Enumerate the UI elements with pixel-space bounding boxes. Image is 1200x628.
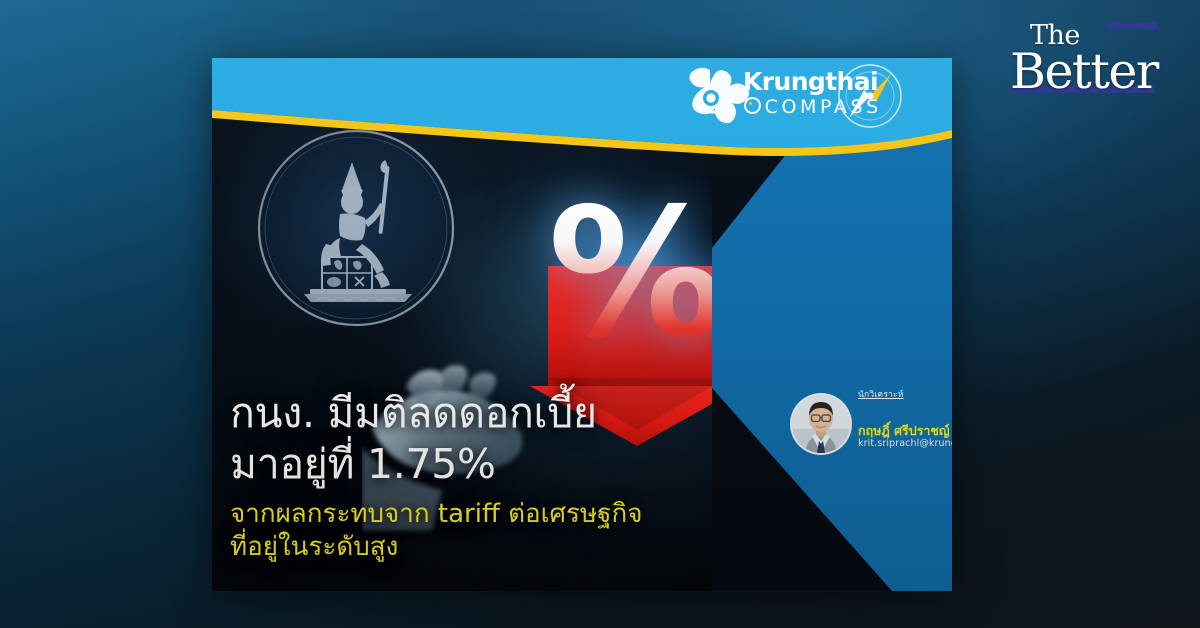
analyst-email: krit.sriprachl@krungthai.com bbox=[858, 438, 952, 449]
the-better-logo: The Better bbox=[1010, 22, 1160, 93]
analyst-portrait-icon bbox=[790, 393, 852, 455]
brand-product-text: COMPASS bbox=[765, 96, 882, 118]
headline: กนง. มีมติลดดอกเบี้ย มาอยู่ที่ 1.75% bbox=[230, 388, 750, 490]
infographic-card: % bbox=[212, 58, 952, 591]
subheadline: จากผลกระทบจาก tariff ต่อเศรษฐกิจ ที่อยู่… bbox=[230, 498, 750, 564]
page-background: The Better bbox=[0, 0, 1200, 628]
headline-line-1: กนง. มีมติลดดอกเบี้ย bbox=[230, 389, 597, 437]
brand-name: Krungthai bbox=[743, 69, 878, 94]
krungthai-compass-logo: Krungthai COMPASS bbox=[680, 62, 920, 132]
subheadline-line-1: จากผลกระทบจาก tariff ต่อเศรษฐกิจ bbox=[230, 499, 642, 529]
analyst-role-label: นักวิเคราะห์ bbox=[858, 387, 904, 401]
logo-better-text: Better bbox=[1010, 49, 1160, 94]
analyst-block: นักวิเคราะห์ กฤษฎิ์ ศรีปราชญ์ krit.sripr… bbox=[790, 385, 952, 465]
headline-line-2: มาอยู่ที่ 1.75% bbox=[230, 439, 750, 490]
compass-o-ring-icon bbox=[744, 97, 761, 114]
brand-product: COMPASS bbox=[744, 96, 882, 117]
krungthai-vayupak-garuda-icon bbox=[689, 68, 749, 124]
subheadline-line-2: ที่อยู่ในระดับสูง bbox=[230, 531, 750, 564]
